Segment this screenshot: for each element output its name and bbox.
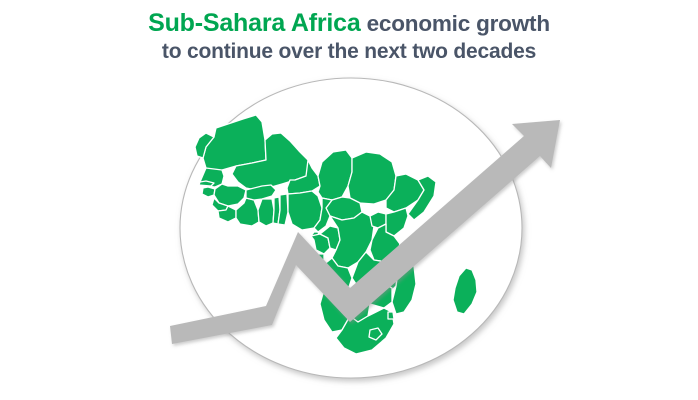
illustration-svg bbox=[0, 0, 698, 400]
graphic-stage bbox=[0, 0, 698, 400]
country-benin bbox=[278, 194, 288, 225]
infographic-root: Sub-Sahara Africa economic growth to con… bbox=[0, 0, 698, 400]
country-eswatini bbox=[388, 312, 394, 319]
country-ghana bbox=[258, 199, 274, 226]
country-guinea-bissau bbox=[202, 187, 215, 197]
